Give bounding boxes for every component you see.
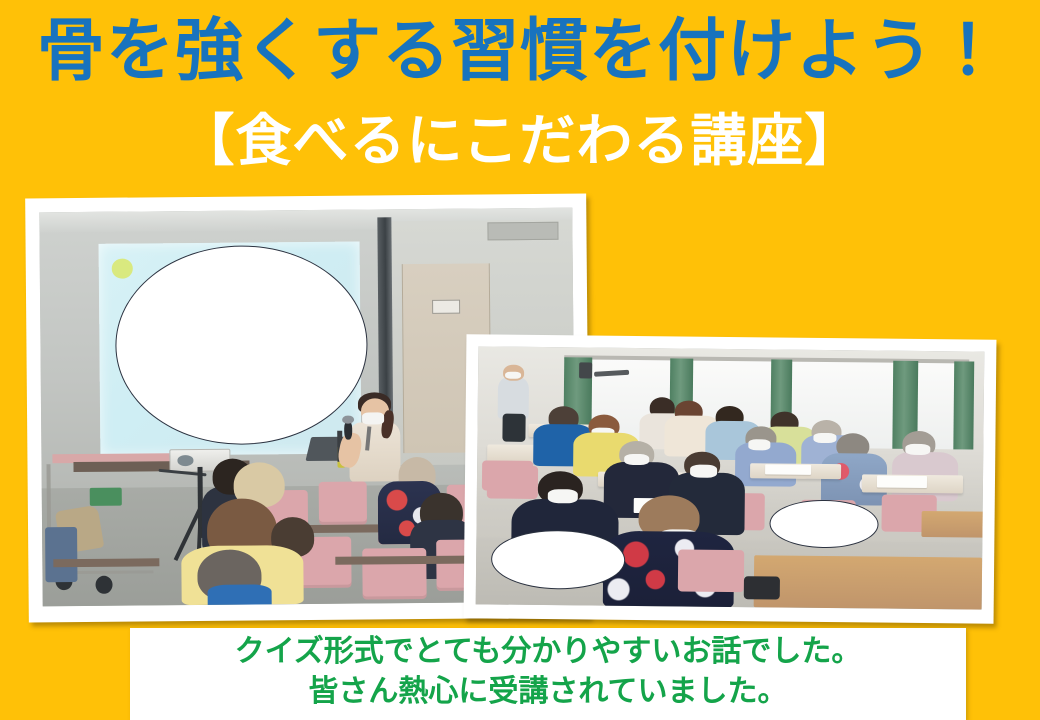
projector-lens	[177, 455, 193, 465]
participants-photo-image	[476, 346, 985, 609]
standing-staff-legs	[503, 414, 526, 443]
face-mask	[624, 454, 649, 466]
worksheet	[765, 464, 811, 475]
face-mask	[505, 371, 521, 379]
participants-photo	[464, 334, 997, 624]
caption-box: クイズ形式でとても分かりやすいお話でした。 皆さん熱心に受講されていました。	[130, 628, 966, 720]
page-title: 骨を強くする習慣を付けよう！	[0, 16, 1040, 88]
face-mask	[690, 465, 718, 478]
caption-line-1: クイズ形式でとても分かりやすいお話でした。	[235, 632, 862, 672]
wall-sign	[432, 299, 461, 314]
presenter-face-mask	[362, 412, 383, 425]
green-box	[90, 487, 122, 505]
privacy-mask-ellipse	[491, 530, 625, 590]
desk	[922, 511, 985, 538]
face-mask	[548, 489, 579, 504]
attendee-body-blue	[208, 585, 272, 607]
desk-row	[53, 558, 160, 567]
seated-person-legs	[45, 527, 77, 582]
worksheet	[877, 476, 928, 488]
caption-line-2: 皆さん熱心に受講されていました。	[308, 672, 787, 712]
page-subtitle: 【食べるにこだわる講座】	[0, 112, 1040, 172]
bag	[744, 576, 780, 600]
chair	[487, 465, 538, 499]
curtain	[953, 362, 974, 450]
poster-canvas: 骨を強くする習慣を付けよう！ 【食べるにこだわる講座】	[0, 0, 1040, 720]
face-mask	[814, 432, 837, 443]
face-mask	[748, 439, 771, 450]
desk	[754, 556, 982, 610]
chair	[319, 481, 367, 525]
privacy-mask-ellipse	[770, 499, 879, 549]
chair	[678, 550, 744, 592]
ceiling-vent	[487, 222, 558, 240]
wall-speaker	[579, 363, 592, 379]
face-mask	[905, 444, 930, 456]
